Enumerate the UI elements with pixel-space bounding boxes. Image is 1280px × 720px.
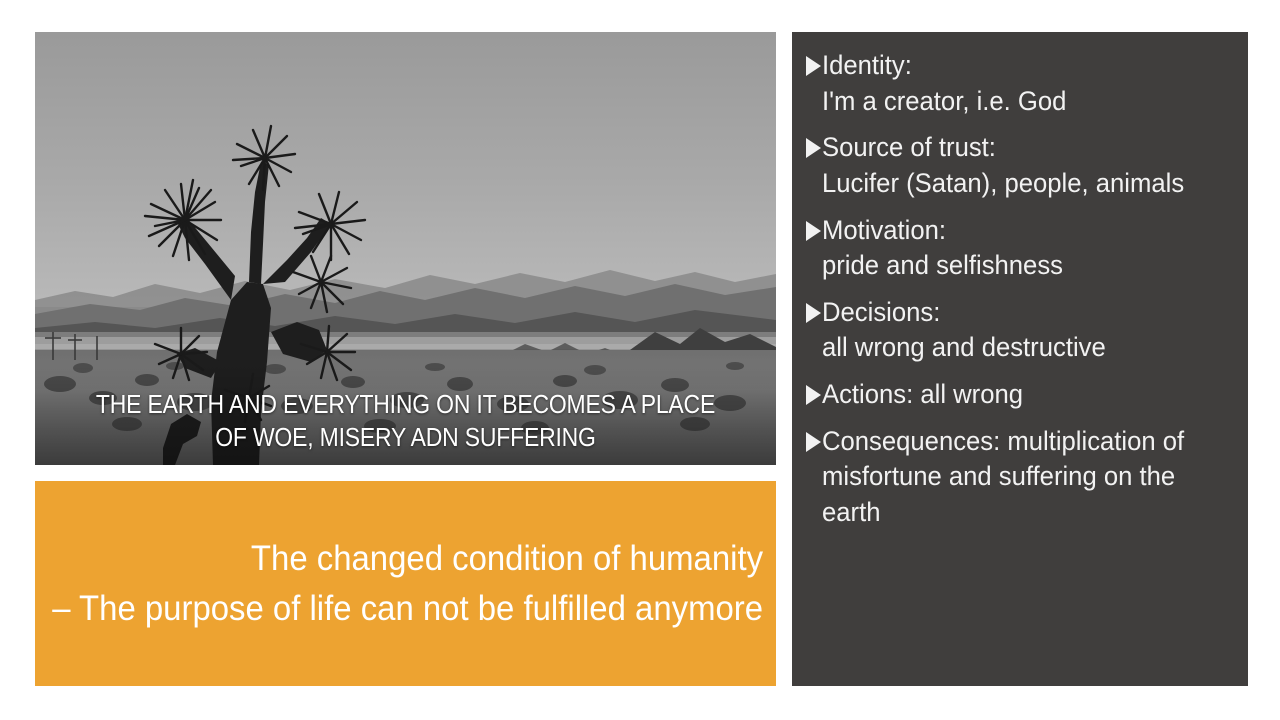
orange-callout-text: The changed condition of humanity – The … bbox=[52, 534, 776, 633]
orange-callout-line-1: The changed condition of humanity bbox=[52, 534, 763, 584]
triangle-bullet-icon bbox=[806, 56, 821, 76]
triangle-bullet-icon bbox=[806, 385, 821, 405]
triangle-bullet-icon bbox=[806, 432, 821, 452]
list-item-label: Identity: I'm a creator, i.e. God bbox=[822, 48, 1213, 119]
list-item-label: Actions: all wrong bbox=[822, 377, 1213, 413]
desert-photo: THE EARTH AND EVERYTHING ON IT BECOMES A… bbox=[35, 32, 776, 465]
triangle-bullet-icon bbox=[806, 221, 821, 241]
list-item: Source of trust: Lucifer (Satan), people… bbox=[806, 130, 1234, 201]
bullet-panel: Identity: I'm a creator, i.e. God Source… bbox=[792, 32, 1248, 686]
orange-callout-line-2: – The purpose of life can not be fulfill… bbox=[52, 584, 763, 634]
list-item: Identity: I'm a creator, i.e. God bbox=[806, 48, 1234, 119]
list-item: Actions: all wrong bbox=[806, 377, 1234, 413]
list-item: Consequences: multiplication of misfortu… bbox=[806, 424, 1234, 531]
list-item-label: Motivation: pride and selfishness bbox=[822, 213, 1213, 284]
photo-caption: THE EARTH AND EVERYTHING ON IT BECOMES A… bbox=[72, 389, 739, 455]
list-item: Motivation: pride and selfishness bbox=[806, 213, 1234, 284]
list-item-label: Source of trust: Lucifer (Satan), people… bbox=[822, 130, 1213, 201]
list-item: Decisions: all wrong and destructive bbox=[806, 295, 1234, 366]
list-item-label: Consequences: multiplication of misfortu… bbox=[822, 424, 1213, 531]
bullet-list: Identity: I'm a creator, i.e. God Source… bbox=[806, 48, 1234, 531]
list-item-label: Decisions: all wrong and destructive bbox=[822, 295, 1213, 366]
presentation-slide: THE EARTH AND EVERYTHING ON IT BECOMES A… bbox=[0, 0, 1280, 720]
triangle-bullet-icon bbox=[806, 303, 821, 323]
triangle-bullet-icon bbox=[806, 138, 821, 158]
orange-callout-box: The changed condition of humanity – The … bbox=[35, 481, 776, 686]
